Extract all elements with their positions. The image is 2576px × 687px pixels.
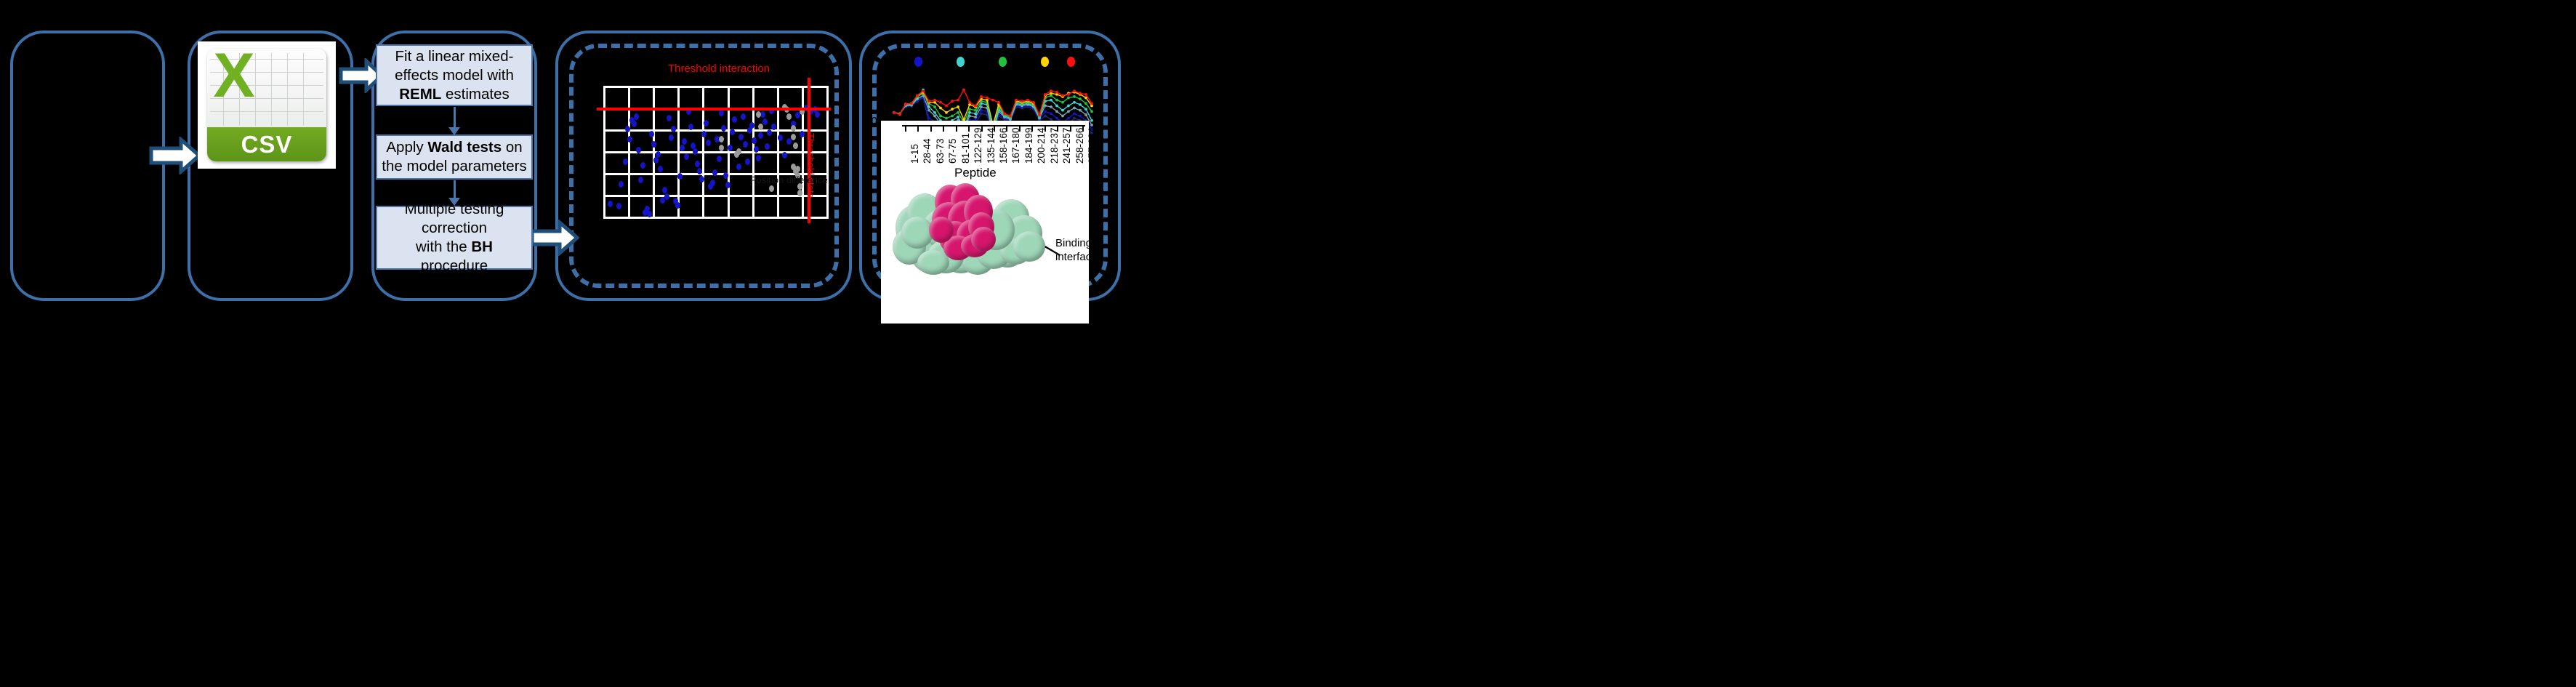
line-point xyxy=(933,99,936,102)
scatter-point xyxy=(693,148,698,155)
line-point xyxy=(951,108,954,111)
line-point xyxy=(927,117,930,120)
line-point xyxy=(1073,107,1076,110)
x-axis-tick xyxy=(1031,126,1033,132)
line-point xyxy=(1073,101,1076,104)
line-point xyxy=(1090,124,1093,126)
connector-line-1 xyxy=(454,107,456,129)
line-point xyxy=(1026,99,1029,102)
scatter-point xyxy=(710,180,715,186)
threshold-interaction-line xyxy=(597,108,831,111)
line-point xyxy=(974,109,977,112)
line-point xyxy=(1061,115,1064,118)
protein-surface-blob xyxy=(929,217,954,243)
x-axis-tick xyxy=(1082,126,1084,132)
line-point xyxy=(1038,113,1041,116)
line-point xyxy=(933,111,936,114)
scatter-point xyxy=(656,151,661,158)
scatter-point xyxy=(684,153,689,160)
scatter-point xyxy=(608,201,613,207)
line-point xyxy=(1090,119,1093,122)
scatter-point xyxy=(680,145,685,151)
x-axis-tick xyxy=(930,126,932,132)
scatter-point xyxy=(752,137,757,144)
csv-icon-format-label: CSV xyxy=(207,127,326,161)
line-point xyxy=(957,105,959,108)
line-point xyxy=(1061,95,1064,97)
scatter-point xyxy=(738,134,744,140)
step1-line2: effects model with xyxy=(395,67,514,84)
line-point xyxy=(1079,109,1082,112)
x-axis-tick xyxy=(981,126,983,132)
legend-dot xyxy=(957,57,965,67)
line-point xyxy=(1061,109,1064,112)
arrow-1 xyxy=(149,137,201,174)
scatter-chart-title: Threshold interaction xyxy=(624,63,813,75)
scatter-point xyxy=(736,148,741,155)
line-point xyxy=(962,89,965,92)
line-point xyxy=(1055,105,1058,108)
legend-dot xyxy=(999,57,1007,67)
scatter-point xyxy=(815,111,820,118)
scatter-point xyxy=(653,157,659,164)
step2-bold-wald: Wald tests xyxy=(427,139,502,156)
arrow-3 xyxy=(530,220,579,256)
scatter-point xyxy=(677,173,683,180)
scatter-point xyxy=(786,113,792,120)
x-axis-tick-label: 28-44 xyxy=(922,138,933,164)
line-point xyxy=(1090,110,1093,113)
scatter-point xyxy=(719,145,724,151)
scatter-point xyxy=(695,161,700,167)
x-axis-tick xyxy=(956,126,957,132)
scatter-point xyxy=(638,177,643,183)
x-axis-tick-label: 241-257 xyxy=(1061,127,1072,164)
scatter-point xyxy=(706,140,711,146)
line-point xyxy=(997,101,1000,104)
line-point xyxy=(957,99,959,102)
line-point xyxy=(1050,112,1052,115)
scatter-point xyxy=(765,143,770,150)
line-point xyxy=(1067,117,1070,120)
line-point xyxy=(1090,102,1093,105)
line-point xyxy=(951,115,954,118)
x-axis-tick xyxy=(1019,126,1021,132)
x-axis-tick-label: 135-144 xyxy=(986,127,997,164)
line-point xyxy=(927,100,930,103)
line-point xyxy=(1073,112,1076,115)
line-point xyxy=(927,105,930,108)
line-point xyxy=(974,105,977,108)
scatter-chart: Threshold interaction Threshold state Po… xyxy=(594,64,834,238)
line-point xyxy=(1050,99,1052,102)
scatter-point xyxy=(756,155,761,161)
scatter-point xyxy=(640,162,645,169)
scatter-point xyxy=(743,141,748,148)
scatter-point xyxy=(769,185,774,192)
line-point xyxy=(1079,92,1082,95)
line-point xyxy=(980,95,983,98)
scatter-point xyxy=(688,124,693,130)
x-axis-tick-label: 1-15 xyxy=(909,144,920,164)
step3-line1: Multiple testing xyxy=(405,201,504,217)
scatter-point xyxy=(623,158,628,165)
line-point xyxy=(910,102,913,105)
scatter-point xyxy=(719,136,724,142)
step3-line3-suffix: procedure xyxy=(421,257,488,274)
scatter-point xyxy=(778,134,783,141)
line-point xyxy=(1084,97,1087,100)
process-step-fit-model: Fit a linear mixed- effects model with R… xyxy=(376,44,533,106)
x-axis-tick-label: 81-101 xyxy=(960,133,971,164)
scatter-axis-faint-text: Position difference xyxy=(750,174,828,185)
line-point xyxy=(933,115,936,118)
scatter-point xyxy=(786,138,792,145)
scatter-point xyxy=(758,132,763,139)
line-chart-x-axis-label: Peptide xyxy=(954,166,997,180)
line-point xyxy=(1079,115,1082,118)
x-axis-tick-label: 184-199 xyxy=(1023,127,1034,164)
line-point xyxy=(1079,97,1082,100)
x-axis-tick-label: 67-75 xyxy=(947,138,958,164)
x-axis-tick xyxy=(1057,126,1058,132)
x-axis-tick xyxy=(905,126,906,132)
scatter-point xyxy=(754,146,759,153)
x-axis-tick-label: 277-284 xyxy=(1087,127,1098,164)
line-point xyxy=(939,107,942,110)
binding-interface-label: Binding interface xyxy=(1055,236,1098,264)
x-axis-tick xyxy=(994,126,995,132)
line-point xyxy=(1084,102,1087,105)
scatter-point xyxy=(732,116,737,123)
line-point xyxy=(1061,101,1064,104)
step3-line2: correction xyxy=(422,220,487,236)
scatter-point xyxy=(704,120,709,126)
scatter-point xyxy=(721,125,726,132)
line-point xyxy=(933,105,936,108)
line-point xyxy=(968,101,971,104)
line-point xyxy=(1055,99,1058,102)
threshold-state-label: Threshold state xyxy=(805,133,816,198)
scatter-point xyxy=(632,121,637,127)
x-axis-tick xyxy=(917,126,919,132)
scatter-point xyxy=(741,113,746,120)
step3-bold-bh: BH xyxy=(471,238,493,255)
line-point xyxy=(945,117,948,120)
step1-line3-suffix: estimates xyxy=(441,86,509,103)
line-point xyxy=(1073,89,1076,92)
scatter-point xyxy=(651,141,656,148)
x-axis-tick xyxy=(943,126,944,132)
x-axis-tick-label: 63-73 xyxy=(935,138,946,164)
line-point xyxy=(1044,115,1047,118)
protein-structure-image xyxy=(891,183,1047,285)
scatter-point xyxy=(795,166,800,172)
line-chart-legend xyxy=(884,57,1102,68)
scatter-gridline-h xyxy=(603,86,829,88)
line-point xyxy=(927,109,930,112)
protein-surface-blob xyxy=(971,227,996,252)
scatter-point xyxy=(782,152,787,158)
line-point xyxy=(1015,99,1018,102)
line-point xyxy=(1067,105,1070,108)
line-point xyxy=(957,111,959,114)
scatter-point xyxy=(719,110,724,116)
scatter-point xyxy=(699,176,704,182)
scatter-point xyxy=(736,164,741,170)
x-axis-tick-label: 218-237 xyxy=(1049,127,1060,164)
workflow-diagram: X CSV Fit a linear mixed- effects model … xyxy=(0,0,2576,687)
scatter-point xyxy=(647,211,652,217)
protein-surface-blob xyxy=(917,250,949,275)
line-point xyxy=(893,111,895,114)
process-step-wald-tests: Apply Wald tests on the model parameters xyxy=(376,134,533,180)
x-axis-tick xyxy=(968,126,970,132)
line-point xyxy=(1009,115,1012,118)
line-point xyxy=(1050,105,1052,108)
line-point xyxy=(1073,117,1076,120)
x-axis-tick-label: 258-266 xyxy=(1074,127,1085,164)
line-point xyxy=(898,113,901,116)
scatter-point xyxy=(762,118,768,125)
scatter-plot-area xyxy=(603,86,829,219)
line-point xyxy=(916,95,919,97)
line-point xyxy=(974,112,977,115)
step1-bold-reml: REML xyxy=(399,86,441,103)
line-point xyxy=(1084,108,1087,111)
line-point xyxy=(1032,101,1035,104)
scatter-point xyxy=(634,113,639,120)
scatter-point xyxy=(627,136,632,142)
line-point xyxy=(939,101,942,104)
protein-surface-blob xyxy=(1013,231,1045,262)
step3-line3-prefix: with the xyxy=(416,238,471,255)
csv-icon-x-letter: X xyxy=(212,50,257,103)
line-point xyxy=(1050,89,1052,92)
x-axis-tick-label: 122-129 xyxy=(973,127,983,164)
line-point xyxy=(957,116,959,118)
x-axis-tick-label: 167-180 xyxy=(1010,127,1021,164)
step2-line2: the model parameters xyxy=(382,158,526,174)
process-step-multiple-testing: Multiple testing correction with the BH … xyxy=(376,206,533,270)
line-point xyxy=(1079,103,1082,106)
line-point xyxy=(1067,110,1070,113)
scatter-point xyxy=(619,181,624,188)
scatter-point xyxy=(791,134,796,140)
line-point xyxy=(1044,93,1047,96)
scatter-point xyxy=(728,145,733,151)
line-point xyxy=(904,103,907,105)
line-point xyxy=(922,89,925,92)
connector-line-2 xyxy=(454,180,456,199)
scatter-point xyxy=(723,172,728,179)
scatter-point xyxy=(758,124,763,130)
scatter-point xyxy=(662,187,667,193)
line-chart-y-tick: 0.0 xyxy=(862,115,877,127)
line-point xyxy=(945,111,948,114)
line-point xyxy=(939,115,942,118)
csv-icon-grid: X xyxy=(207,49,326,127)
line-point xyxy=(1044,110,1047,113)
legend-dot xyxy=(1041,57,1049,67)
scatter-point xyxy=(667,115,672,121)
scatter-point xyxy=(771,124,776,130)
line-point xyxy=(1003,112,1006,115)
scatter-point xyxy=(669,134,674,141)
line-point xyxy=(1067,93,1070,96)
line-point xyxy=(951,100,954,103)
scatter-point xyxy=(767,129,772,136)
protein-surface-blob xyxy=(901,217,933,249)
line-point xyxy=(1055,91,1058,94)
line-point xyxy=(974,116,977,118)
scatter-point xyxy=(756,111,761,118)
step2-suffix: on xyxy=(502,139,523,156)
x-axis-tick-label: 158-166 xyxy=(998,127,1009,164)
scatter-point xyxy=(682,138,687,145)
x-axis-tick-label: 200-214 xyxy=(1036,127,1047,164)
csv-file-icon: X CSV xyxy=(198,41,336,169)
scatter-point xyxy=(701,131,707,137)
line-point xyxy=(1073,95,1076,98)
line-point xyxy=(945,105,948,108)
line-point xyxy=(986,97,989,100)
scatter-point xyxy=(797,190,802,196)
scatter-point xyxy=(791,125,796,132)
scatter-point xyxy=(658,166,663,172)
line-point xyxy=(1084,93,1087,96)
csv-icon-tile: X CSV xyxy=(207,49,326,161)
x-axis-tick xyxy=(1006,126,1007,132)
line-point xyxy=(1055,110,1058,113)
line-point xyxy=(1055,117,1058,120)
scatter-point xyxy=(616,203,621,209)
line-point xyxy=(1084,113,1087,116)
scatter-point xyxy=(730,129,735,135)
line-point xyxy=(1067,97,1070,100)
line-point xyxy=(991,99,994,102)
scatter-point xyxy=(760,111,765,118)
x-axis-tick xyxy=(1070,126,1071,132)
legend-dot xyxy=(1067,57,1075,67)
panel-data-source xyxy=(10,31,165,301)
step2-prefix: Apply xyxy=(386,139,427,156)
scatter-point xyxy=(717,156,722,162)
line-point xyxy=(1021,100,1023,103)
legend-dot xyxy=(914,57,922,67)
scatter-point xyxy=(664,193,669,200)
scatter-gridline-h xyxy=(603,217,829,219)
x-axis-tick xyxy=(1045,126,1046,132)
scatter-point xyxy=(793,142,798,149)
scatter-gridline-h xyxy=(603,195,829,197)
step1-line1: Fit a linear mixed- xyxy=(395,48,514,65)
scatter-point xyxy=(745,158,750,165)
binding-label-line1: Binding xyxy=(1055,236,1098,250)
binding-label-line2: interface xyxy=(1055,250,1098,264)
scatter-point xyxy=(675,202,680,209)
